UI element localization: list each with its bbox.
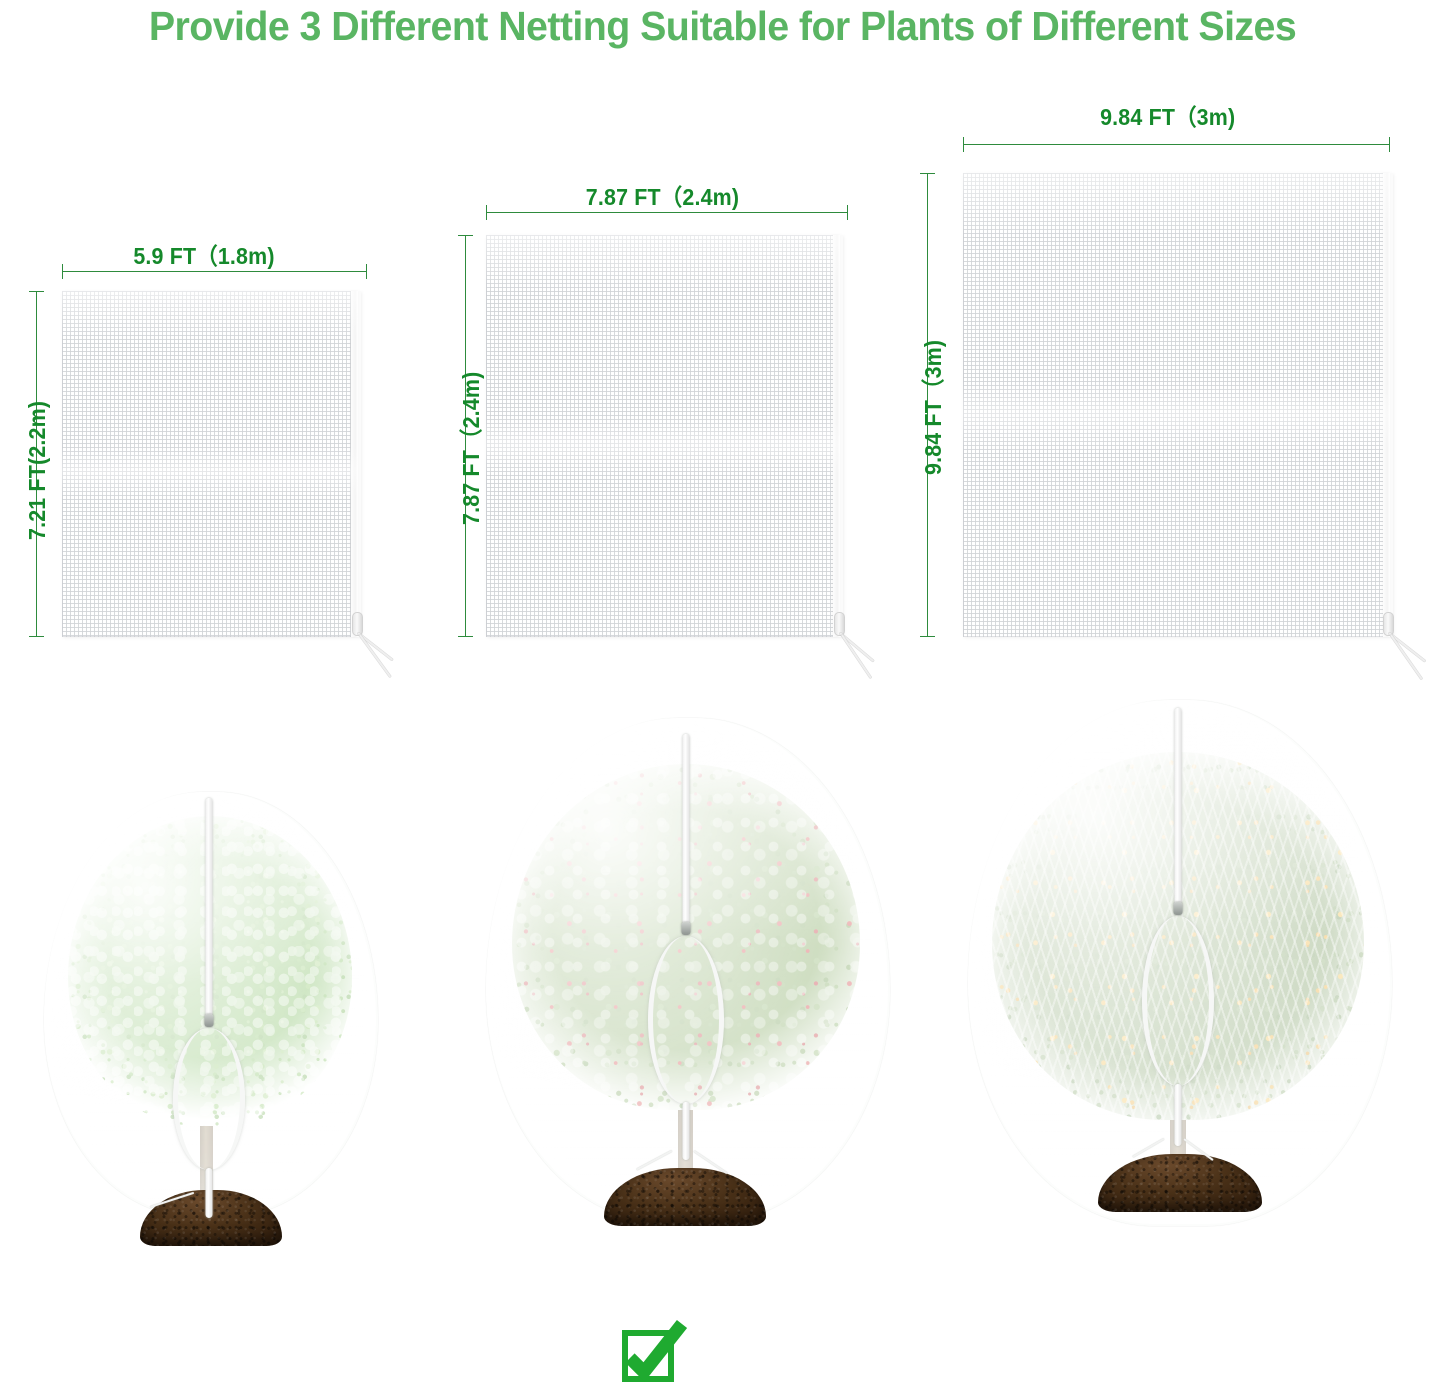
tree-cover-large: [968, 700, 1388, 1222]
dimension-label-width-small: 5.9 FT（1.8m): [133, 237, 274, 271]
soil-mound-medium: [604, 1168, 766, 1226]
dim-cap-top: [458, 235, 473, 236]
approved-check-badge: [614, 1316, 690, 1392]
netting-panel-large: [963, 173, 1393, 637]
panel-seam: [1383, 173, 1390, 637]
soil-mound-small: [140, 1190, 282, 1246]
tree-canopy-medium: [512, 764, 860, 1110]
dimension-line-width-large: [963, 144, 1390, 145]
dim-cap-left: [963, 137, 964, 152]
foliage-texture: [992, 752, 1364, 1120]
dim-cap-right: [1389, 137, 1390, 152]
dim-cap-bottom: [920, 636, 935, 637]
tree-canopy-large: [992, 752, 1364, 1120]
checkbox-check-icon: [614, 1316, 690, 1392]
infographic-canvas: Provide 3 Different Netting Suitable for…: [0, 0, 1445, 1399]
tree-cover-medium: [486, 718, 886, 1218]
soil-mound-large: [1098, 1154, 1262, 1212]
dimension-label-width-medium: 7.87 FT（2.4m): [586, 178, 739, 212]
panel-seam: [833, 235, 840, 637]
dimension-label-height-medium: 7.87 FT（2.4m): [452, 372, 486, 525]
panel-seam: [351, 291, 358, 637]
dimension-line-width-medium: [486, 212, 848, 213]
bottom-tie-cord: [636, 1150, 672, 1170]
dimension-label-width-large: 9.84 FT（3m): [1100, 98, 1235, 132]
dim-cap-top: [920, 173, 935, 174]
dim-cap-bottom: [458, 636, 473, 637]
dimension-label-height-small: 7.21 FT(2.2m): [24, 401, 51, 540]
foliage-texture: [512, 764, 860, 1110]
tree-canopy-small: [68, 816, 352, 1126]
netting-panel-small: [62, 291, 361, 637]
tree-cover-small: [44, 792, 374, 1212]
netting-panel-medium: [486, 235, 843, 637]
dim-cap-right: [366, 264, 367, 279]
dim-cap-left: [62, 264, 63, 279]
dimension-line-width-small: [62, 271, 367, 272]
dim-cap-bottom: [29, 636, 44, 637]
dimension-label-height-large: 9.84 FT（3m): [914, 340, 948, 475]
dim-cap-right: [847, 205, 848, 220]
dim-cap-top: [29, 291, 44, 292]
foliage-texture: [68, 816, 352, 1126]
page-title: Provide 3 Different Netting Suitable for…: [29, 2, 1416, 50]
dim-cap-left: [486, 205, 487, 220]
